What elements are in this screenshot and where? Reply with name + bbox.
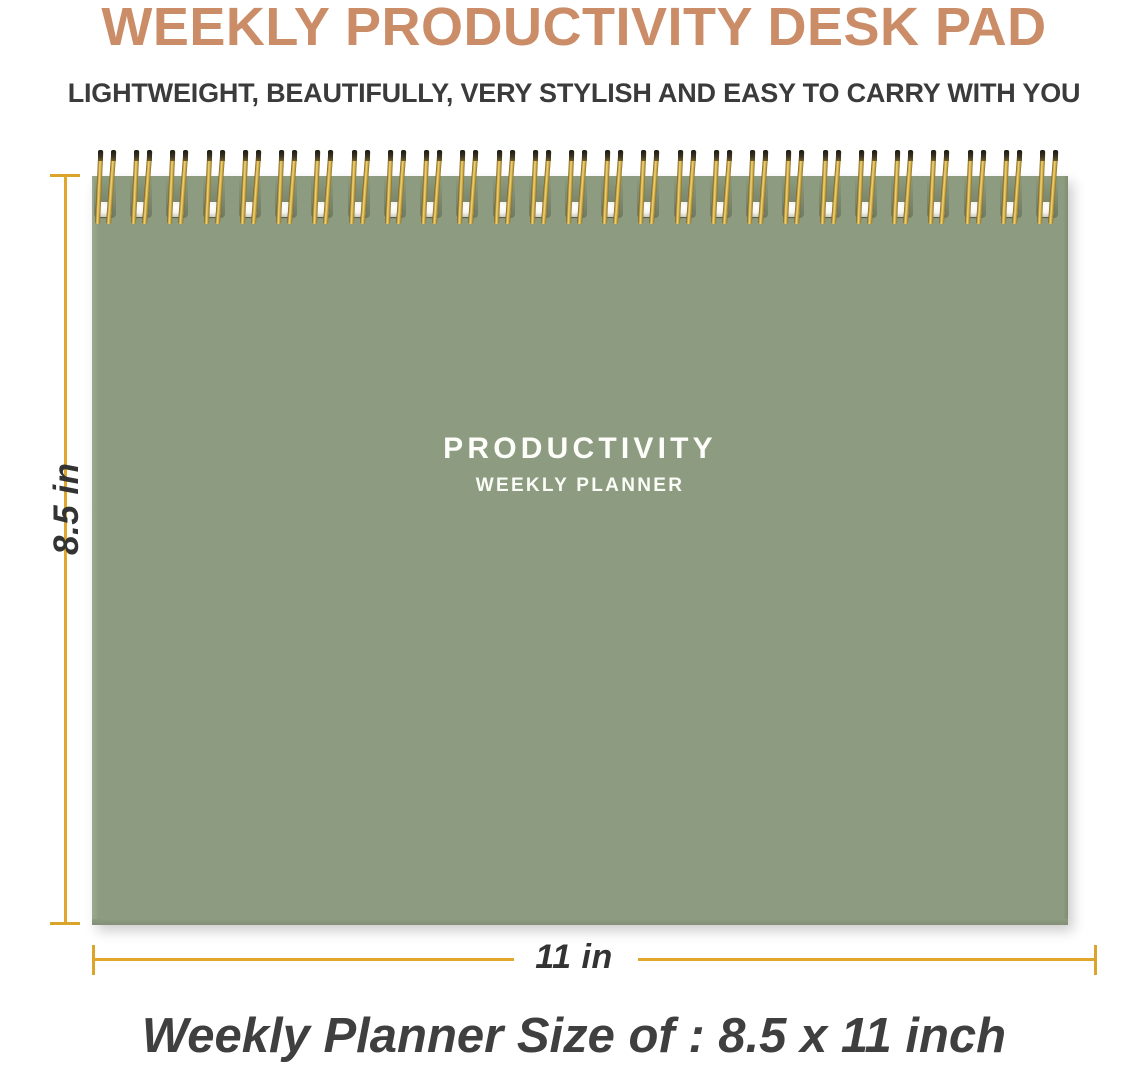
spiral-coil-tip (315, 150, 320, 161)
spiral-coil-tip (279, 150, 284, 161)
spiral-coil-tip (437, 150, 442, 161)
spiral-coil-tip (908, 150, 913, 161)
spiral-coil-tip (134, 150, 139, 161)
spiral-coil-tip (1053, 150, 1058, 161)
spiral-coil-tip (111, 150, 116, 161)
spiral-coil-tip (1004, 150, 1009, 161)
spiral-coil-tip (473, 150, 478, 161)
spiral-coil-tip (582, 150, 587, 161)
spiral-coil-tip (328, 150, 333, 161)
spiral-coil-tip (895, 150, 900, 161)
spiral-coil-tip (641, 150, 646, 161)
cover-text-block: PRODUCTIVITY WEEKLY PLANNER (92, 432, 1068, 497)
spiral-coil-tip (859, 150, 864, 161)
spiral-coil-tip (618, 150, 623, 161)
spiral-coil-tip (1017, 150, 1022, 161)
pad-left-edge-highlight (92, 176, 99, 925)
spiral-coil-tip (931, 150, 936, 161)
spiral-coil-tip (678, 150, 683, 161)
spiral-coil-tip (786, 150, 791, 161)
spiral-coil-tip (750, 150, 755, 161)
spiral-coil-tip (147, 150, 152, 161)
cover-subtitle: WEEKLY PLANNER (92, 475, 1068, 497)
spiral-coil-tip (727, 150, 732, 161)
spiral-coil-tip (207, 150, 212, 161)
spiral-coil-tip (170, 150, 175, 161)
spiral-coil-tip (388, 150, 393, 161)
dimension-width-label: 11 in (0, 938, 1148, 977)
planner-pad-cover: PRODUCTIVITY WEEKLY PLANNER (92, 176, 1068, 925)
spiral-coil-tip (98, 150, 103, 161)
spiral-coil-tip (533, 150, 538, 161)
spiral-coil-tip (981, 150, 986, 161)
spiral-coil-tip (823, 150, 828, 161)
footer-caption: Weekly Planner Size of : 8.5 x 11 inch (0, 1008, 1148, 1064)
spiral-coil-tip (424, 150, 429, 161)
spiral-coil-tip (605, 150, 610, 161)
spiral-coil-tip (243, 150, 248, 161)
spiral-coil-tip (292, 150, 297, 161)
spiral-coil-tip (872, 150, 877, 161)
spiral-coil-tip (510, 150, 515, 161)
spiral-coil-tip (714, 150, 719, 161)
spiral-coil-tip (944, 150, 949, 161)
pad-right-edge-shade (1063, 176, 1068, 925)
spiral-coil-tip (569, 150, 574, 161)
dimension-height-label: 8.5 in (47, 465, 87, 555)
spiral-coil-tip (497, 150, 502, 161)
spiral-coil-tip (968, 150, 973, 161)
spiral-coil-tip (1040, 150, 1045, 161)
dimension-height-bottom-cap (50, 922, 80, 925)
spiral-coil-tip (220, 150, 225, 161)
spiral-coil-tip (256, 150, 261, 161)
product-image-stage: 8.5 in PRODUCTIVITY WEEKLY PLANNER 11 in (0, 0, 1148, 1080)
spiral-coil-tip (691, 150, 696, 161)
spiral-coil-tip (763, 150, 768, 161)
spiral-coil-tip (183, 150, 188, 161)
spiral-coil-tip (836, 150, 841, 161)
spiral-coil-tip (352, 150, 357, 161)
spiral-coil-tip (460, 150, 465, 161)
spiral-coil-tip (799, 150, 804, 161)
cover-title: PRODUCTIVITY (92, 432, 1068, 466)
spiral-coil-tip (546, 150, 551, 161)
pad-bottom-edge-shade (92, 919, 1068, 925)
spiral-coil-tip (365, 150, 370, 161)
spiral-coil-tip (654, 150, 659, 161)
spiral-coil-tip (401, 150, 406, 161)
